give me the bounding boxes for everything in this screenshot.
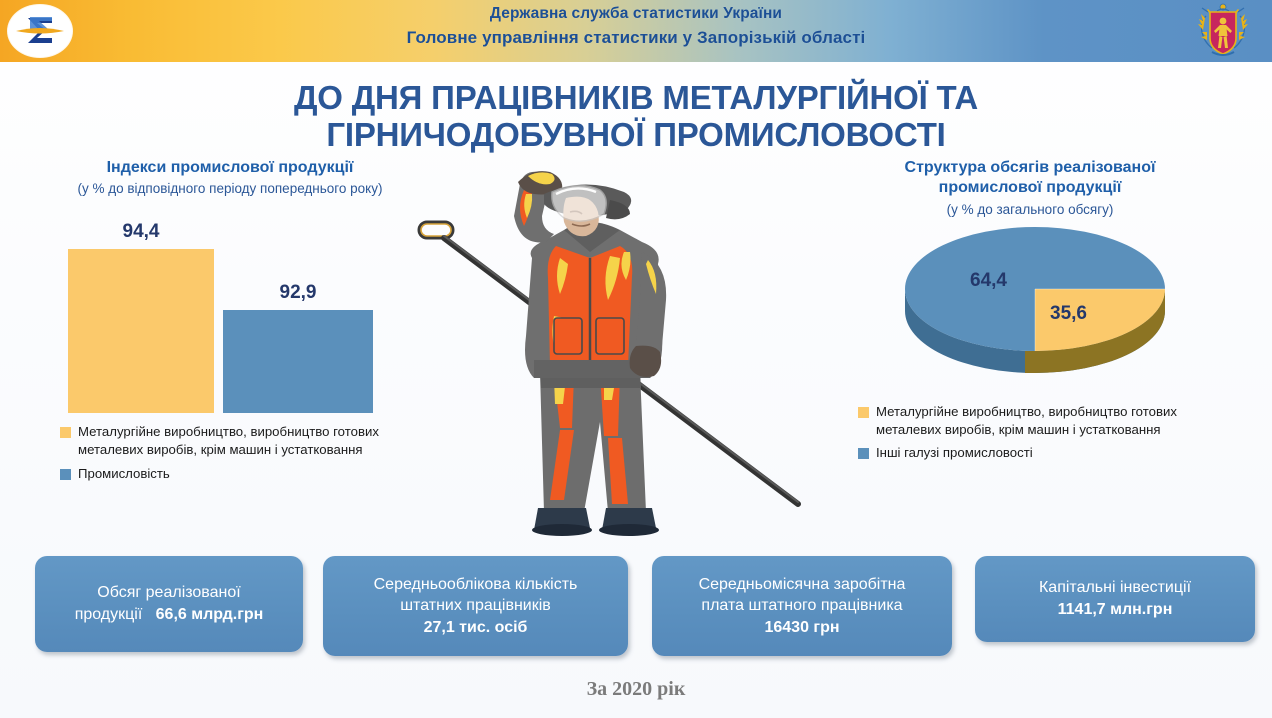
legend-item-industry: Промисловість [60,465,390,483]
worker-trousers [540,372,646,512]
legend-swatch-yellow-icon [60,427,71,438]
bar-value-metallurgy: 94,4 [68,221,214,243]
period-footer: За 2020 рік [0,678,1272,701]
page-title-line-1: ДО ДНЯ ПРАЦІВНИКІВ МЕТАЛУРГІЙНОЇ ТА [120,80,1152,117]
header-line-2: Головне управління статистики у Запорізь… [0,27,1272,49]
pie-legend-label-metallurgy: Металургійне виробництво, виробництво го… [876,404,1177,437]
worker-helmet-and-face [544,184,631,236]
stat-card-0-label: Обсяг реалізованої [97,582,240,604]
header-band: Державна служба статистики України Голов… [0,0,1272,62]
stat-card-3-label: Капітальні інвестиції [1039,577,1191,599]
stat-card-2-label2: плата штатного працівника [701,595,902,617]
bar-rect-industry [223,310,373,413]
pie-chart-legend: Металургійне виробництво, виробництво го… [830,403,1230,462]
bar-column-metallurgy: 94,4 [68,249,214,413]
infographic-canvas: Державна служба статистики України Голов… [0,0,1272,718]
stat-card-0-line2: продукції 66,6 млрд.грн [75,604,264,626]
stat-card-2-value: 16430 грн [764,617,839,639]
stat-card-3-value: 1141,7 млн.грн [1058,599,1173,621]
stat-card-headcount: Середньооблікова кількість штатних праці… [323,556,628,656]
stat-card-sold-products: Обсяг реалізованої продукції 66,6 млрд.г… [35,556,303,652]
bar-value-industry: 92,9 [223,282,373,304]
stat-card-1-label2: штатних працівників [400,595,551,617]
worker-boots [532,508,659,536]
page-title-line-2: ГІРНИЧОДОБУВНОЇ ПРОМИСЛОВОСТІ [120,117,1152,154]
pie-legend-swatch-blue-icon [858,448,869,459]
pie-chart-title-line-1: Структура обсягів реалізованої [905,159,1156,176]
bar-chart-panel: Індекси промислової продукції (у % до ві… [30,158,430,538]
pie-chart-subtitle: (у % до загального обсягу) [830,202,1230,217]
pie-legend-item-metallurgy: Металургійне виробництво, виробництво го… [858,403,1196,438]
pie-chart-plot: 64,4 35,6 [830,227,1230,397]
header-titles: Державна служба статистики України Голов… [0,4,1272,50]
pie-value-other-industries: 64,4 [970,270,1007,292]
bar-column-industry: 92,9 [223,310,373,413]
bar-chart-title: Індекси промислової продукції [30,158,430,177]
pie-chart-svg [830,227,1230,397]
legend-label-metallurgy: Металургійне виробництво, виробництво го… [78,424,379,457]
page-title: ДО ДНЯ ПРАЦІВНИКІВ МЕТАЛУРГІЙНОЇ ТА ГІРН… [120,80,1152,154]
header-line-1: Державна служба статистики України [0,4,1272,24]
stat-card-average-wage: Середньомісячна заробітна плата штатного… [652,556,952,656]
bar-rect-metallurgy [68,249,214,413]
key-figures-row: Обсяг реалізованої продукції 66,6 млрд.г… [0,556,1272,664]
bar-chart-subtitle: (у % до відповідного періоду попередньог… [30,181,430,197]
stat-card-0-label2: продукції [75,606,143,623]
pie-value-metallurgy: 35,6 [1050,303,1087,325]
stat-card-1-label: Середньооблікова кількість [374,574,578,596]
pie-legend-label-other: Інші галузі промисловості [876,445,1033,460]
zaporizhzhia-coat-of-arms [1196,2,1250,60]
legend-label-industry: Промисловість [78,466,170,481]
pie-legend-item-other: Інші галузі промисловості [858,444,1196,462]
metallurgy-worker-illustration [414,160,844,545]
stat-card-capital-investment: Капітальні інвестиції 1141,7 млн.грн [975,556,1255,642]
pie-chart-title: Структура обсягів реалізованої промислов… [830,158,1230,198]
legend-item-metallurgy: Металургійне виробництво, виробництво го… [60,423,390,458]
stat-card-2-label: Середньомісячна заробітна [699,574,906,596]
pie-chart-title-line-2: промислової продукції [939,179,1122,196]
bar-chart-legend: Металургійне виробництво, виробництво го… [30,423,430,482]
pie-chart-panel: Структура обсягів реалізованої промислов… [830,158,1230,538]
stat-card-1-value: 27,1 тис. осіб [424,617,528,639]
stat-card-0-value: 66,6 млрд.грн [156,606,264,623]
legend-swatch-blue-icon [60,469,71,480]
bar-chart-plot: 94,4 92,9 [30,213,430,413]
pie-legend-swatch-yellow-icon [858,407,869,418]
